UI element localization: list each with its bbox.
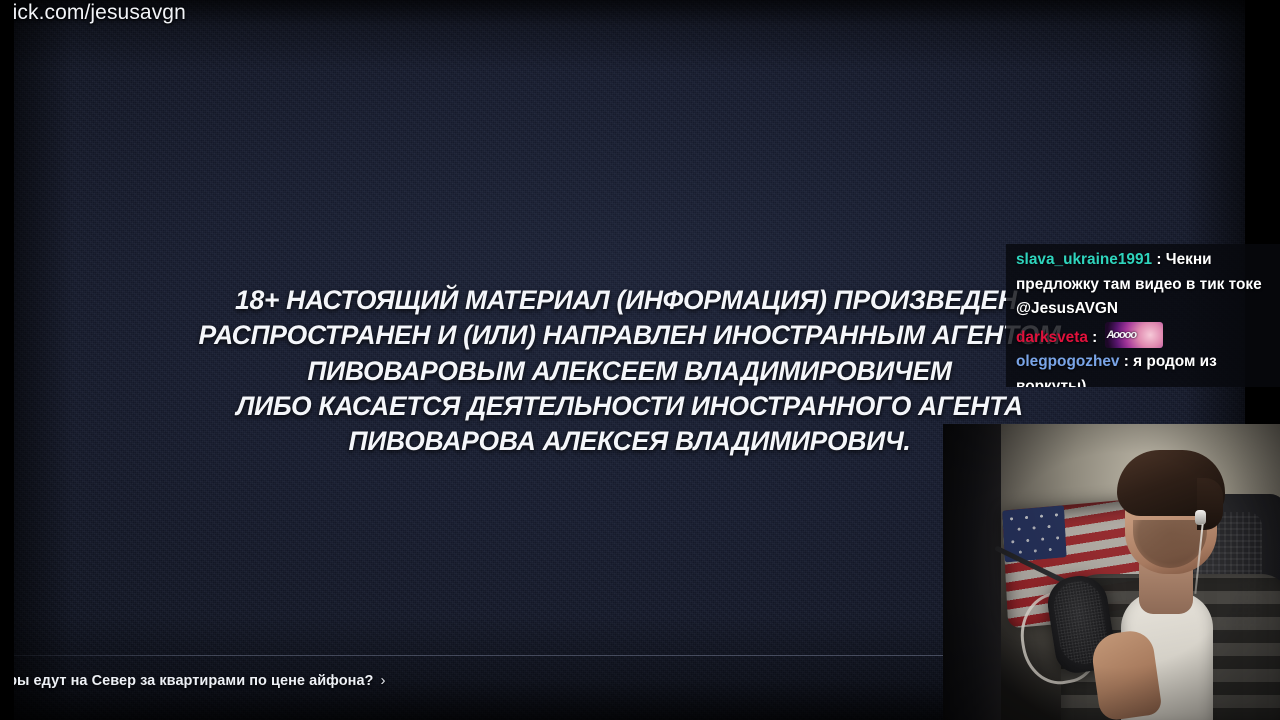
aoooo-emote-icon (1105, 322, 1163, 348)
news-ticker[interactable]: еры едут на Север за квартирами по цене … (14, 672, 386, 689)
disclaimer-line-4: ЛИБО КАСАЕТСЯ ДЕЯТЕЛЬНОСТИ ИНОСТРАННОГО … (14, 389, 1245, 424)
chat-separator: : (1124, 353, 1129, 370)
chat-overlay[interactable]: slava_ukraine1991 : Чекни предложку там … (1006, 244, 1280, 387)
chevron-right-icon[interactable]: › (380, 672, 385, 689)
chat-separator: : (1156, 251, 1161, 268)
stream-screenshot: 18+ НАСТОЯЩИЙ МАТЕРИАЛ (ИНФОРМАЦИЯ) ПРОИ… (0, 0, 1280, 720)
chat-username[interactable]: slava_ukraine1991 (1016, 251, 1152, 268)
news-ticker-headline: еры едут на Север за квартирами по цене … (14, 673, 373, 689)
earbud (1195, 510, 1206, 525)
chat-message: olegpogozhev : я родом из воркуты) (1016, 350, 1272, 387)
hair (1117, 450, 1225, 516)
chat-username[interactable]: darksveta (1016, 329, 1088, 346)
chat-message: darksveta : (1016, 322, 1272, 351)
chat-message: slava_ukraine1991 : Чекни предложку там … (1016, 248, 1272, 322)
channel-url-watermark: kick.com/jesusavgn (2, 1, 186, 25)
streamer-webcam[interactable] (943, 424, 1280, 720)
letterbox-bar-left (0, 0, 14, 720)
chat-separator: : (1092, 329, 1097, 346)
chat-username[interactable]: olegpogozhev (1016, 353, 1119, 370)
webcam-left-panel (943, 424, 1001, 720)
